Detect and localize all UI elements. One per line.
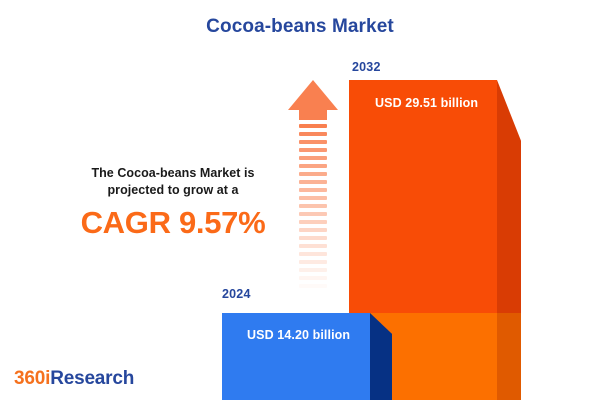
cagr-lead-line-2: projected to grow at a [108,183,239,197]
arrow-stripe [299,156,327,160]
arrow-stripe [299,204,327,208]
market-infographic: Cocoa-beans Market 2024 2032 USD 29.51 b… [0,0,600,400]
arrow-stripes [299,124,327,292]
bar-2032-value-label: USD 29.51 billion [375,96,478,110]
cagr-callout: The Cocoa-beans Market is projected to g… [62,165,284,241]
arrow-stripe [299,124,327,128]
bar-label-year-2024: 2024 [222,287,251,301]
logo-text-research: Research [50,368,134,389]
foreground-band-side-panel [497,313,521,400]
arrow-stripe [299,284,327,288]
arrow-stripe [299,180,327,184]
arrow-neck [299,109,327,120]
brand-logo: 360iResearch [14,368,134,390]
bar-2024-face [222,313,370,400]
arrow-stripe [299,260,327,264]
arrow-stripe [299,196,327,200]
arrow-stripe [299,244,327,248]
bar-label-year-2032: 2032 [352,60,381,74]
arrow-stripe [299,188,327,192]
arrow-stripe [299,212,327,216]
arrow-stripe [299,172,327,176]
arrow-stripe [299,148,327,152]
arrow-stripe [299,236,327,240]
arrow-head-icon [288,80,338,110]
arrow-stripe [299,268,327,272]
page-title: Cocoa-beans Market [0,16,600,38]
arrow-stripe [299,228,327,232]
cagr-value-text: CAGR 9.57% [62,205,284,241]
logo-text-360i: 360i [14,368,50,389]
arrow-stripe [299,220,327,224]
arrow-stripe [299,164,327,168]
arrow-stripe [299,276,327,280]
cagr-lead-text: The Cocoa-beans Market is projected to g… [62,165,284,199]
upward-growth-arrow-icon [288,80,338,292]
arrow-stripe [299,132,327,136]
bar-2024 [222,313,370,400]
arrow-stripe [299,140,327,144]
bar-2024-value-label: USD 14.20 billion [247,328,350,342]
cagr-lead-line-1: The Cocoa-beans Market is [91,166,254,180]
arrow-stripe [299,252,327,256]
